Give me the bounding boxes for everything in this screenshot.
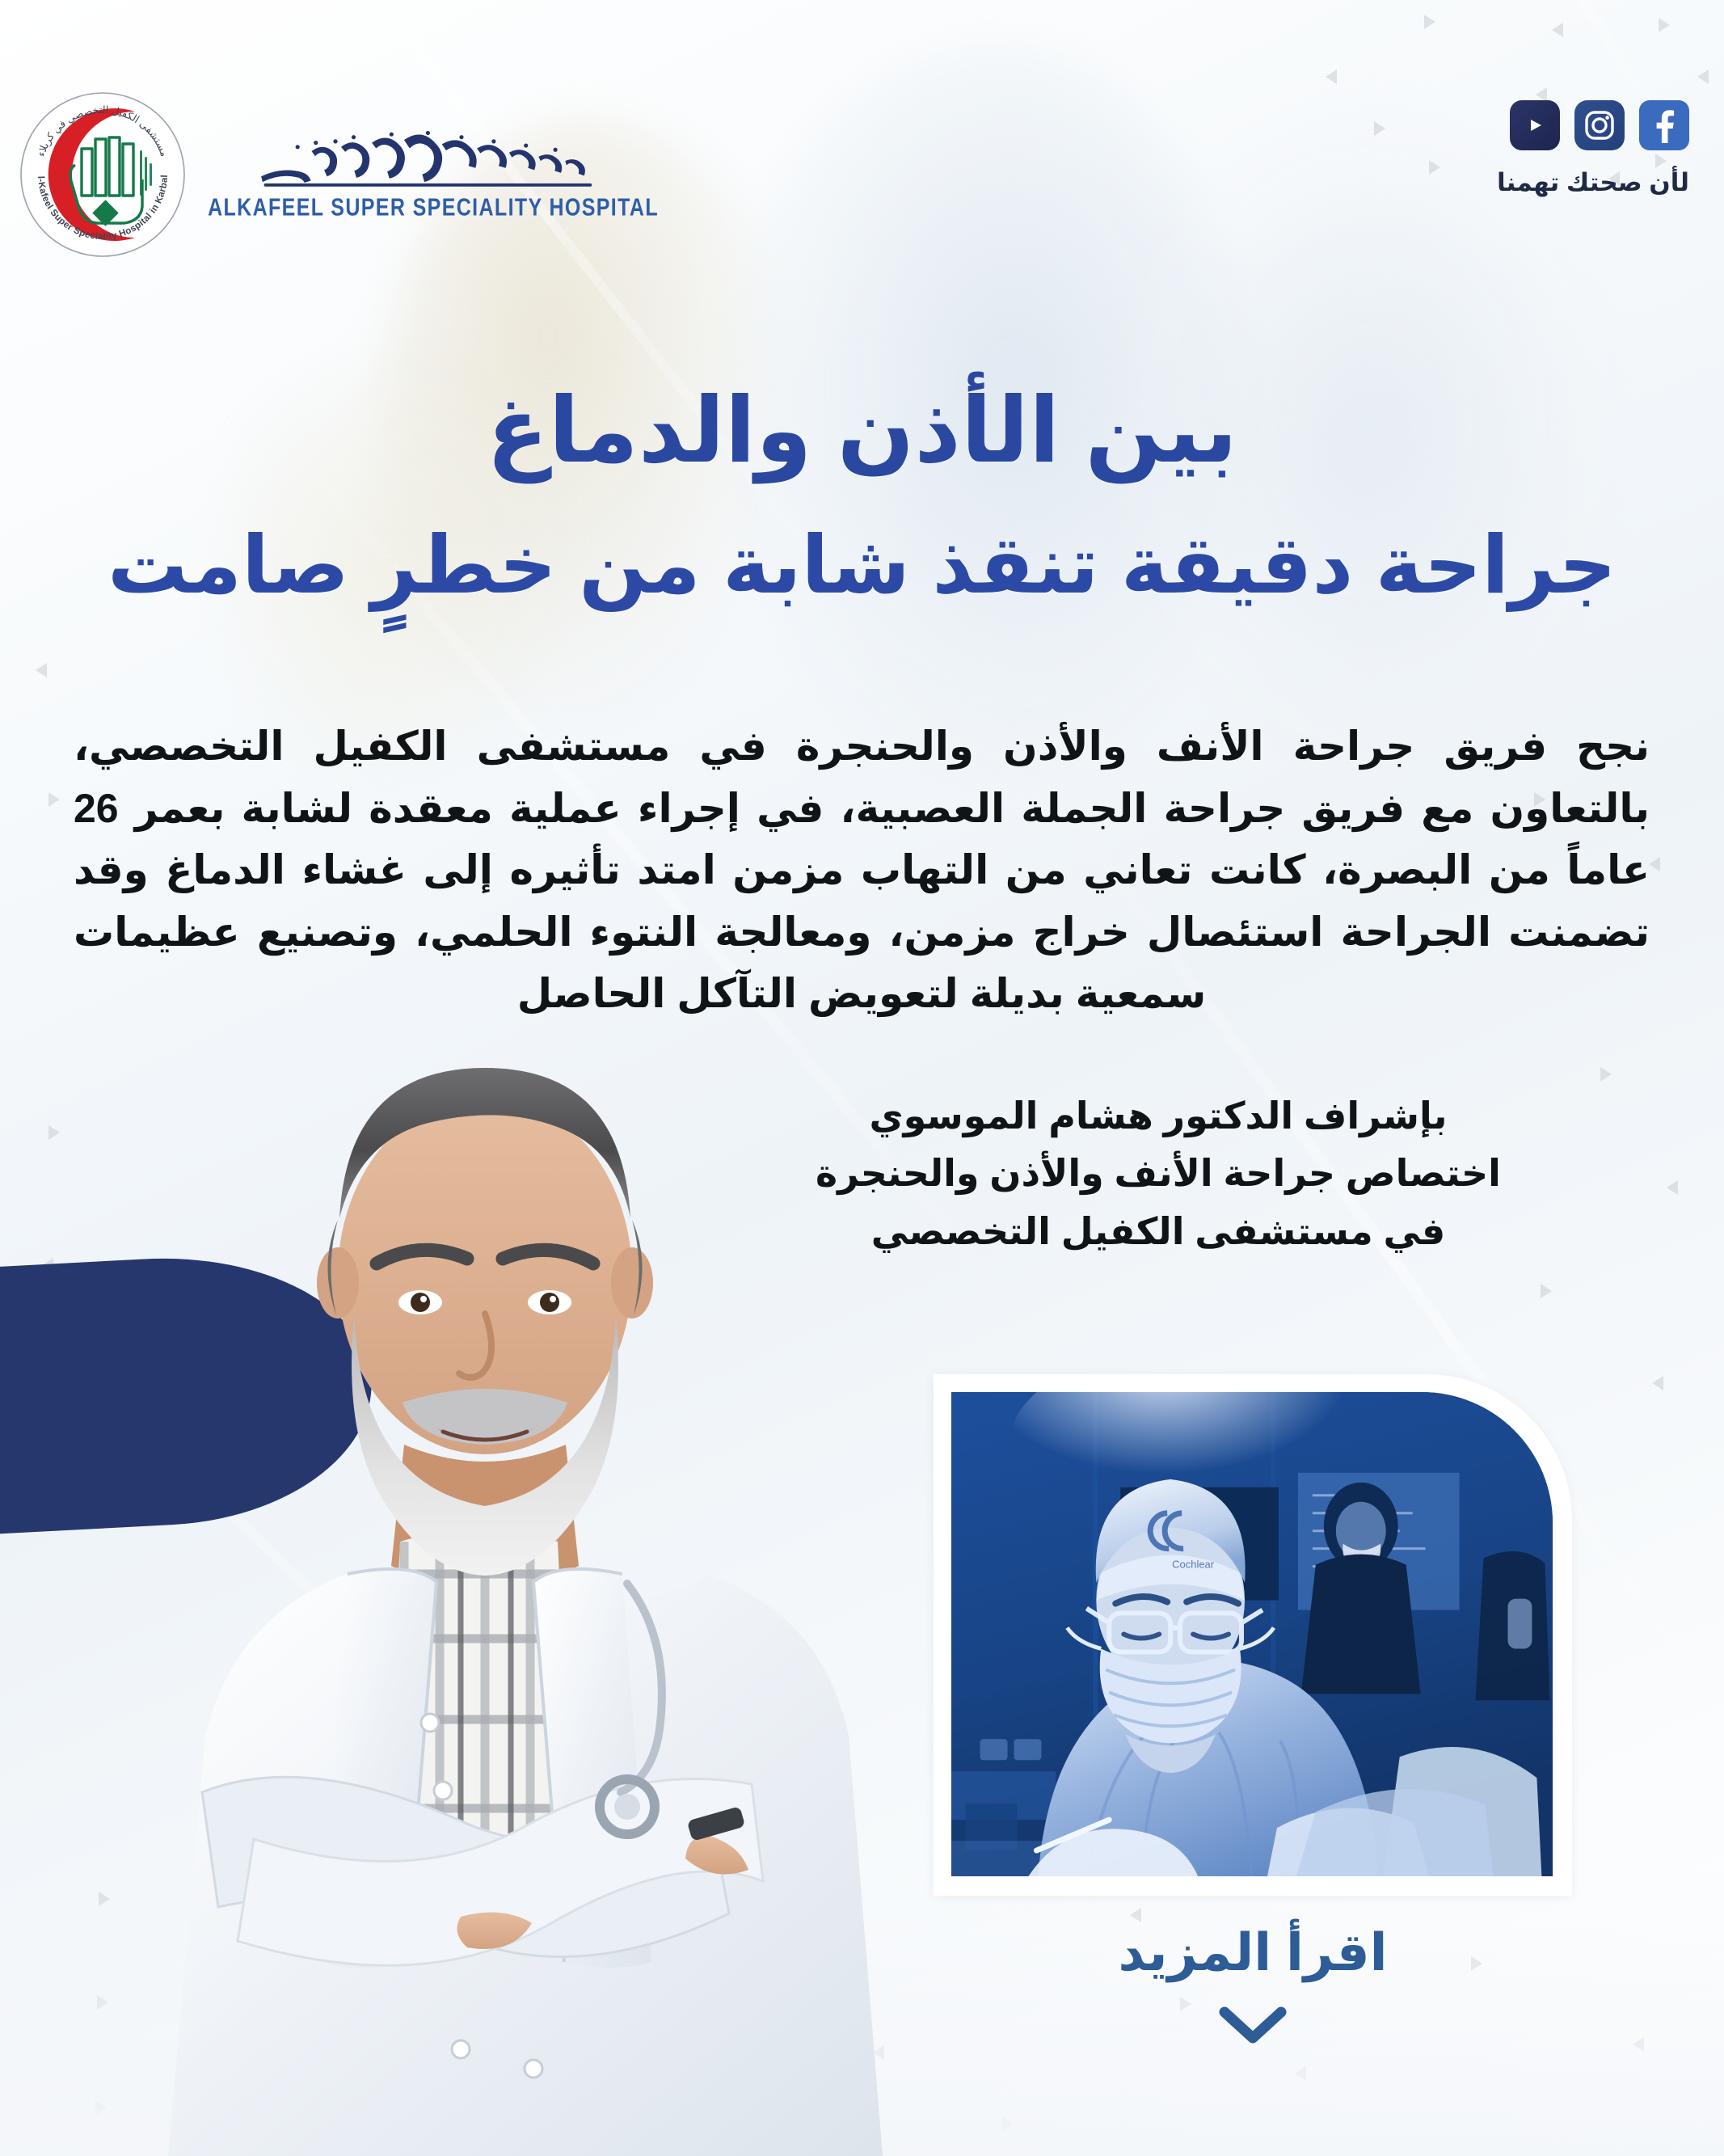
read-more-label: اقرأ المزيد	[934, 1922, 1572, 1983]
headline-block: بين الأذن والدماغ جراحة دقيقة تنقذ شابة …	[0, 380, 1724, 611]
hospital-seal-icon: مستشفى الكفيل التخصصي في كربلاء Al-Kafee…	[19, 91, 187, 259]
brand-logo-lockup[interactable]: مستشفى الكفيل التخصصي في كربلاء Al-Kafee…	[19, 91, 659, 259]
background-triangle	[1541, 1284, 1552, 1298]
chevron-down-icon[interactable]	[934, 2004, 1572, 2046]
social-icon-row	[1423, 100, 1689, 150]
background-triangle	[1649, 857, 1660, 871]
instagram-icon[interactable]	[1574, 100, 1625, 150]
background-triangle	[48, 1125, 60, 1140]
doctor-portrait	[81, 927, 889, 2156]
facebook-icon[interactable]	[1639, 100, 1689, 150]
brand-wordmark-english: ALKAFEEL SUPER SPECIALITY HOSPITAL	[208, 193, 659, 222]
background-triangle	[36, 663, 47, 677]
read-more-button[interactable]: اقرأ المزيد	[934, 1922, 1572, 2046]
surgery-photo-card[interactable]: Cochlear	[934, 1374, 1572, 1896]
social-block: لأن صحتك تهمنا	[1423, 100, 1689, 197]
youtube-icon[interactable]	[1510, 100, 1560, 150]
svg-text:Cochlear: Cochlear	[1172, 1559, 1215, 1571]
background-triangle	[48, 792, 60, 807]
headline-secondary: جراحة دقيقة تنقذ شابة من خطرٍ صامت	[0, 520, 1724, 611]
headline-primary: بين الأذن والدماغ	[0, 380, 1724, 481]
brand-tagline: لأن صحتك تهمنا	[1423, 168, 1689, 197]
brand-wordmark-arabic-calligraphy	[251, 130, 616, 193]
brand-wordmark: ALKAFEEL SUPER SPECIALITY HOSPITAL	[208, 130, 659, 220]
background-triangle	[1652, 1376, 1663, 1390]
header: مستشفى الكفيل التخصصي في كربلاء Al-Kafee…	[0, 0, 1724, 267]
poster-canvas: مستشفى الكفيل التخصصي في كربلاء Al-Kafee…	[0, 0, 1724, 2156]
background-triangle	[1600, 1067, 1612, 1082]
background-triangle	[1667, 1180, 1678, 1195]
surgery-photo: Cochlear	[951, 1392, 1553, 1876]
